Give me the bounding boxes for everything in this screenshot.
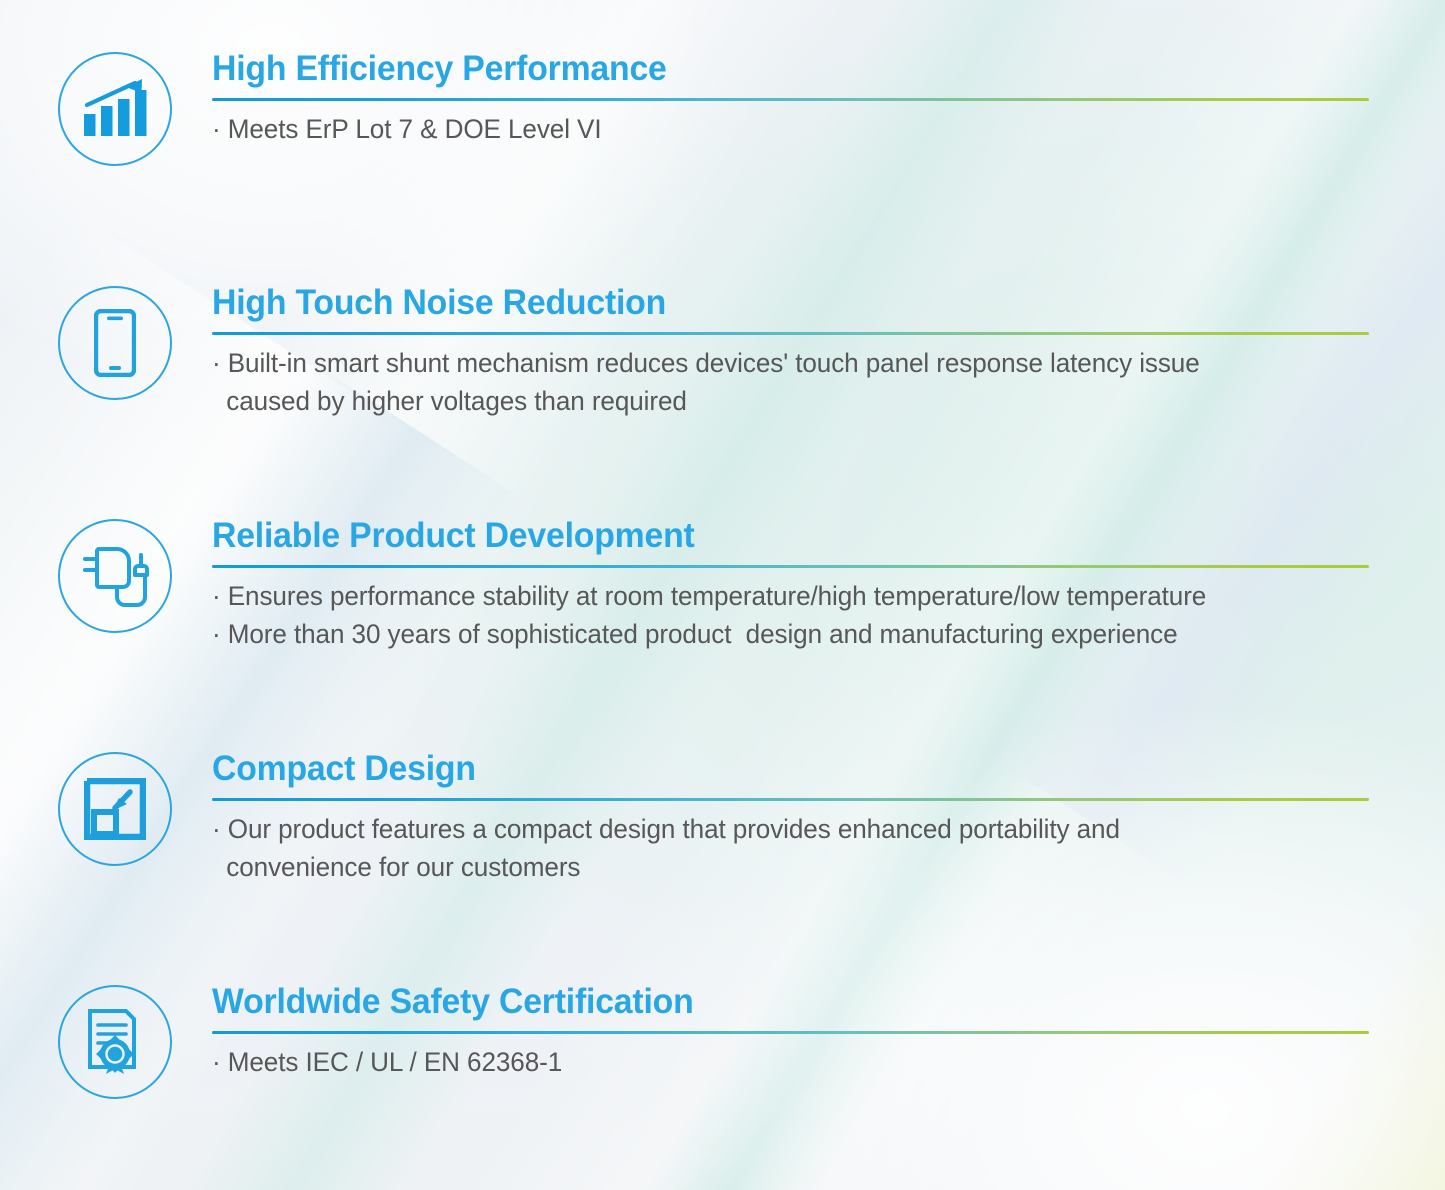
feature-title: High Touch Noise Reduction — [212, 284, 1329, 321]
feature-item-compact-design: Compact Design · Our product features a … — [0, 750, 1445, 886]
compact-resize-icon — [56, 750, 178, 872]
feature-bullets: · Meets ErP Lot 7 & DOE Level VI — [212, 110, 1369, 148]
feature-bullet: convenience for our customers — [212, 848, 1352, 886]
feature-item-worldwide-safety-certification: Worldwide Safety Certification · Meets I… — [0, 983, 1445, 1105]
icon-glyph — [56, 750, 174, 868]
feature-bullet: · Meets ErP Lot 7 & DOE Level VI — [212, 110, 1352, 148]
bar-chart-growth-icon — [56, 50, 178, 172]
feature-divider — [212, 798, 1369, 801]
feature-bullets: · Our product features a compact design … — [212, 810, 1369, 886]
feature-divider — [212, 332, 1369, 335]
feature-item-high-touch-noise-reduction: High Touch Noise Reduction · Built-in sm… — [0, 284, 1445, 420]
feature-title: Reliable Product Development — [212, 517, 1329, 554]
feature-item-high-efficiency-performance: High Efficiency Performance · Meets ErP … — [0, 50, 1445, 172]
feature-item-reliable-product-development: Reliable Product Development · Ensures p… — [0, 517, 1445, 653]
feature-bullet: · Our product features a compact design … — [212, 810, 1352, 848]
feature-text-column: Compact Design · Our product features a … — [212, 750, 1445, 886]
feature-bullets: · Built-in smart shunt mechanism reduces… — [212, 344, 1369, 420]
feature-divider — [212, 1031, 1369, 1034]
feature-text-column: Reliable Product Development · Ensures p… — [212, 517, 1445, 653]
feature-title: Worldwide Safety Certification — [212, 983, 1329, 1020]
icon-glyph — [56, 517, 174, 635]
power-adapter-icon — [56, 517, 178, 639]
feature-bullet: · More than 30 years of sophisticated pr… — [212, 615, 1352, 653]
feature-list: High Efficiency Performance · Meets ErP … — [0, 0, 1445, 1190]
feature-bullet: · Built-in smart shunt mechanism reduces… — [212, 344, 1352, 382]
feature-title: Compact Design — [212, 750, 1329, 787]
feature-highlights-page: High Efficiency Performance · Meets ErP … — [0, 0, 1445, 1190]
feature-bullet: · Meets IEC / UL / EN 62368-1 — [212, 1043, 1352, 1081]
feature-bullets: · Ensures performance stability at room … — [212, 577, 1369, 653]
feature-bullets: · Meets IEC / UL / EN 62368-1 — [212, 1043, 1369, 1081]
feature-text-column: Worldwide Safety Certification · Meets I… — [212, 983, 1445, 1081]
certificate-seal-icon — [56, 983, 178, 1105]
feature-bullet: · Ensures performance stability at room … — [212, 577, 1352, 615]
feature-text-column: High Touch Noise Reduction · Built-in sm… — [212, 284, 1445, 420]
feature-title: High Efficiency Performance — [212, 50, 1329, 87]
feature-divider — [212, 565, 1369, 568]
feature-divider — [212, 98, 1369, 101]
icon-glyph — [56, 284, 174, 402]
feature-text-column: High Efficiency Performance · Meets ErP … — [212, 50, 1445, 148]
feature-bullet: caused by higher voltages than required — [212, 382, 1352, 420]
icon-glyph — [56, 983, 174, 1101]
smartphone-icon — [56, 284, 178, 406]
icon-glyph — [56, 50, 174, 168]
